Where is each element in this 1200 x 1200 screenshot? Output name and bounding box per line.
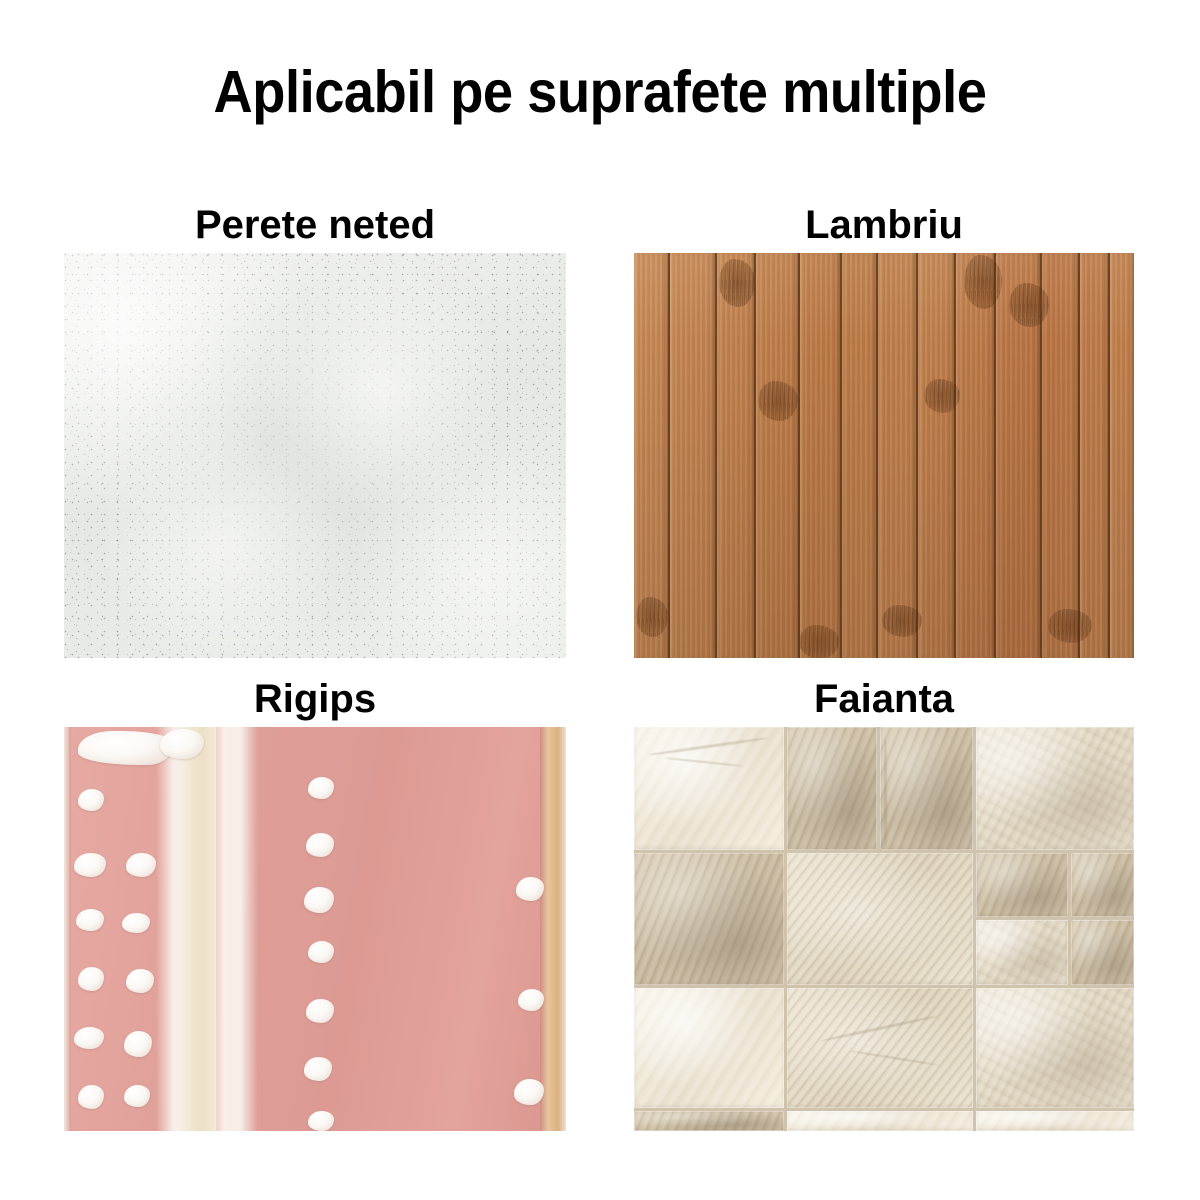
panel-image-faianta bbox=[634, 727, 1134, 1131]
panel-label-faianta: Faianta bbox=[634, 679, 1134, 719]
panel-label-lambriu: Lambriu bbox=[634, 205, 1134, 245]
panel-label-perete-neted: Perete neted bbox=[64, 205, 566, 245]
panel-image-perete-neted bbox=[64, 253, 566, 658]
panel-image-rigips bbox=[64, 727, 566, 1131]
panel-label-rigips: Rigips bbox=[64, 679, 566, 719]
page-title: Aplicabil pe suprafete multiple bbox=[48, 62, 1152, 124]
poster-root: Aplicabil pe suprafete multiple Perete n… bbox=[0, 0, 1200, 1200]
panel-image-lambriu bbox=[634, 253, 1134, 658]
